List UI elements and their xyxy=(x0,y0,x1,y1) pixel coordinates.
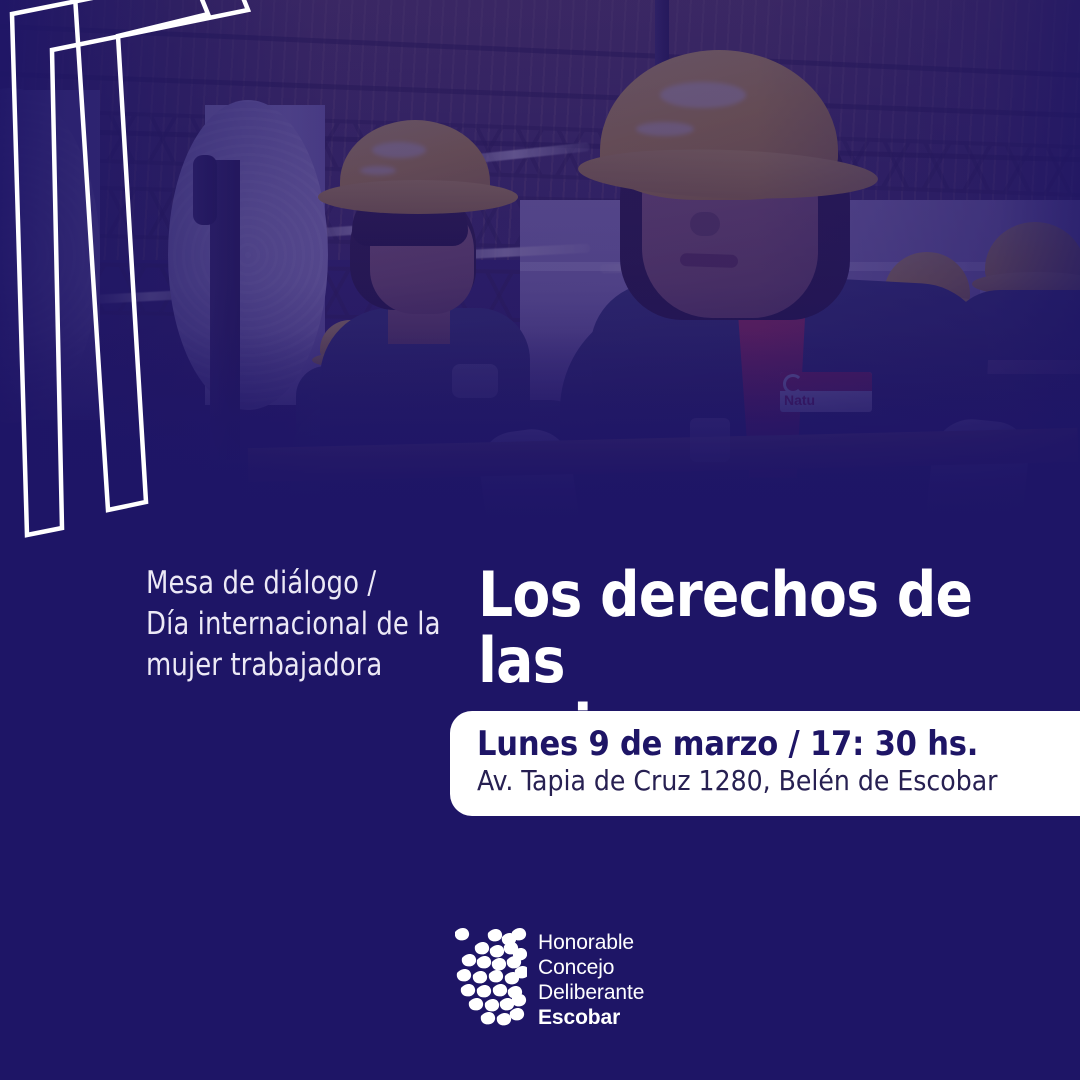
event-address: Av. Tapia de Cruz 1280, Belén de Escobar xyxy=(477,764,1080,798)
subtitle-line-3: mujer trabajadora xyxy=(146,645,444,686)
photo-scene: Natu xyxy=(0,0,1080,545)
logo-wordmark: Honorable Concejo Deliberante Escobar xyxy=(538,930,644,1031)
logo-line-2: Concejo xyxy=(538,955,644,980)
petal-cluster-icon xyxy=(455,928,527,1032)
hero-photo: Natu xyxy=(0,0,1080,545)
logo-line-3: Deliberante xyxy=(538,980,644,1005)
organization-logo: Honorable Concejo Deliberante Escobar xyxy=(455,925,655,1035)
photo-bottom-fade xyxy=(0,330,1080,545)
subtitle-line-1: Mesa de diálogo / xyxy=(146,563,444,604)
title-line-1: Los derechos de las xyxy=(478,562,1013,695)
poster-canvas: Natu Mesa de diálogo / Día internacional xyxy=(0,0,1080,1080)
event-info-box: Lunes 9 de marzo / 17: 30 hs. Av. Tapia … xyxy=(450,711,1080,816)
logo-line-1: Honorable xyxy=(538,930,644,955)
event-subtitle: Mesa de diálogo / Día internacional de l… xyxy=(146,563,444,686)
subtitle-line-2: Día internacional de la xyxy=(146,604,444,645)
logo-line-4: Escobar xyxy=(538,1005,644,1030)
event-date-time: Lunes 9 de marzo / 17: 30 hs. xyxy=(477,724,1080,764)
